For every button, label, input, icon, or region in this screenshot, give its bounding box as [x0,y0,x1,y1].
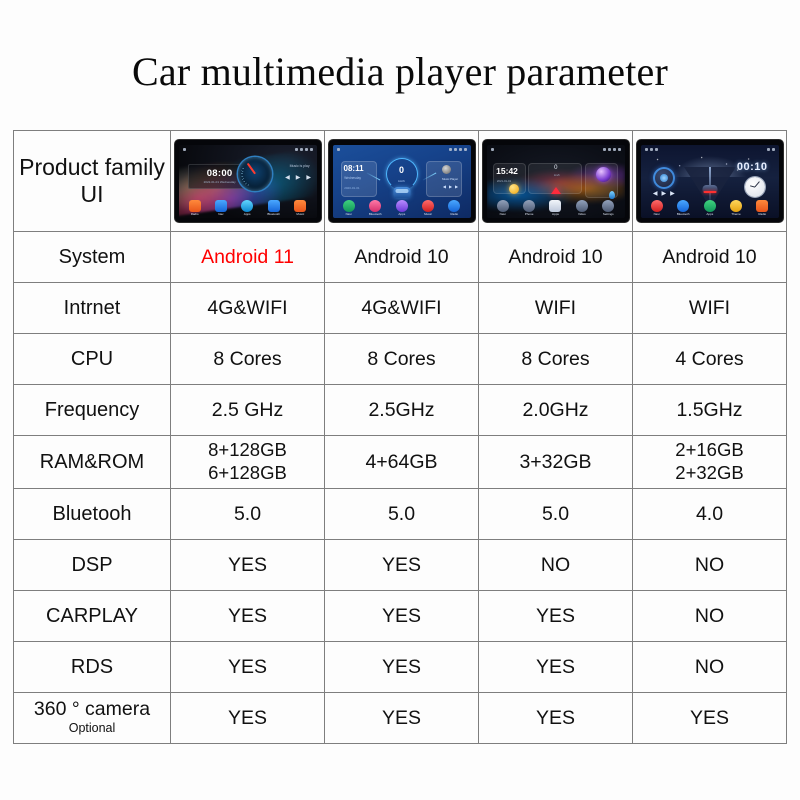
row-value-cell: 3+32GB [479,436,633,489]
screen-2: 08:11 Wednesday 2020-01-01 0 km/h Music … [333,145,471,218]
now-playing-label: Music is play [290,164,310,168]
speed-unit: km/h [554,174,560,177]
status-icons [449,148,467,151]
dock-item[interactable]: Theme [730,200,742,216]
video-icon[interactable] [576,200,588,212]
dock-label: Bluetooth [369,213,382,216]
row-label-cell: Intrnet [14,283,171,334]
row-label: Intrnet [14,297,170,320]
row-value-cell: 2.0GHz [479,385,633,436]
apps-icon[interactable] [396,200,408,212]
row-value-cell: YES [479,591,633,642]
wifi-icon [454,148,457,151]
dock-item[interactable]: Music [422,200,434,216]
row-value-cell: YES [325,591,479,642]
signal-icon [295,148,298,151]
dock-bar-2: Navi Bluetooth Apps [333,197,471,218]
row-value: 5.0 [171,503,324,526]
dock-label: Navi [654,213,660,216]
radio-icon[interactable] [756,200,768,212]
car-icon [702,185,717,192]
row-value-cell: YES [171,693,325,744]
home-icon [183,148,186,151]
row-value-cell: Android 10 [633,232,787,283]
row-value-cell: WIFI [633,283,787,334]
row-value: YES [171,707,324,730]
song-title: Music Player [442,177,458,181]
row-value: 4G&WIFI [325,297,478,320]
battery-icon [772,148,775,151]
gauge-ticks [241,160,269,188]
row-value-cell: 8 Cores [479,334,633,385]
dock-item[interactable]: Navi [651,200,663,216]
row-value-cell: WIFI [479,283,633,334]
radio-icon[interactable] [189,200,201,212]
media-controls-2: ◀ ▶ ▶ [443,184,458,189]
signal-icon [603,148,606,151]
clock-weekday: Wednesday [344,176,361,180]
status-icons [603,148,621,151]
table-row-cpu: CPU 8 Cores 8 Cores 8 Cores 4 Cores [14,334,787,385]
row-value: 4.0 [633,503,786,526]
left-status-icons [645,148,658,151]
row-value: 4+64GB [325,451,478,474]
music-icon[interactable] [422,200,434,212]
table-row-system: System Android 11 Android 10 Android 10 … [14,232,787,283]
row-value-cell: 5.0 [171,489,325,540]
row-label-cell: Frequency [14,385,171,436]
theme-icon[interactable] [730,200,742,212]
bluetooth-icon[interactable] [268,200,280,212]
wifi-icon [767,148,770,151]
row-value: WIFI [479,297,632,320]
dock-item[interactable]: Navi [497,200,509,216]
row-value: 5.0 [325,503,478,526]
row-value: NO [633,656,786,679]
clock-time: 15:42 [496,166,518,176]
row-label-cell: System [14,232,171,283]
row-value: 8 Cores [325,348,478,371]
speed-value: 0 [554,165,557,171]
bluetooth-icon[interactable] [369,200,381,212]
speed-value: 0 [399,165,404,175]
row-value: Android 10 [479,246,632,269]
dock-label: Video [578,213,586,216]
media-controls-1: ◀ ▶ ▶ [285,174,311,181]
clock-subtitle: 2022-01-01 Wednesday [194,180,245,184]
row-value: 2.5GHz [325,399,478,422]
row-value-cell: NO [633,540,787,591]
analog-clock-icon [745,177,765,197]
table-row-intrnet: Intrnet 4G&WIFI 4G&WIFI WIFI WIFI [14,283,787,334]
row-value-cell: 4.0 [633,489,787,540]
dock-item[interactable]: Bluetooth [677,200,690,216]
battery-icon [310,148,313,151]
sphere-decor [509,184,519,194]
ui-thumbnail-1[interactable]: 08:00 2022-01-01 Wednesday Music is play… [175,140,321,222]
row-label: CPU [14,348,170,371]
table-row-dsp: DSP YES YES NO NO [14,540,787,591]
row-label: 360 ° camera [14,699,170,720]
row-value: YES [171,554,324,577]
row-value: Android 11 [171,246,324,269]
row-value-cell: YES [633,693,787,744]
row-value: NO [633,605,786,628]
navigation-icon[interactable] [215,200,227,212]
apps-icon[interactable] [704,200,716,212]
row-label-cell: 360 ° camera Optional [14,693,171,744]
next-icon[interactable]: ▶ [455,184,458,189]
row-label-cell: CARPLAY [14,591,171,642]
row-value: NO [479,554,632,577]
row-value: NO [633,554,786,577]
row-value-cell: YES [325,540,479,591]
row-value: YES [479,605,632,628]
dock-bar-1: Radio Nav Apps [179,197,317,218]
row-value-cell: YES [171,642,325,693]
row-label-cell: RDS [14,642,171,693]
dock-item[interactable]: Bluetooth [369,200,382,216]
row-value-cell: Android 11 [171,232,325,283]
spec-comparison-table: Product family UI [13,130,787,744]
dock-label: Navi [346,213,352,216]
digital-clock: 00:10 [737,161,768,173]
row-value-cell: NO [633,642,787,693]
dock-item[interactable]: Nav [215,200,227,216]
row-value-cell: 2.5 GHz [171,385,325,436]
row-value-cell: Android 10 [479,232,633,283]
ui-thumbnail-2-cell[interactable]: 08:11 Wednesday 2020-01-01 0 km/h Music … [325,131,479,232]
ui-thumbnail-3[interactable]: 15:42 2021-01-01 0 km/h Navi [483,140,629,222]
row-value: WIFI [633,297,786,320]
row-value: 2.0GHz [479,399,632,422]
home-icon [491,148,494,151]
dock-label: Radio [450,213,458,216]
dock-item[interactable]: Radio [189,200,201,216]
next-icon[interactable]: ▶ [306,174,311,181]
status-bar-3 [487,145,625,154]
row-value-cell: 1.5GHz [633,385,787,436]
table-row-ram-rom: RAM&ROM 8+128GB6+128GB 4+64GB 3+32GB 2+1… [14,436,787,489]
dock-label: Nav [218,213,223,216]
row-value-cell: 8 Cores [325,334,479,385]
status-bar-2 [333,145,471,154]
row-value: Android 10 [633,246,786,269]
media-dial-icon[interactable] [653,167,675,189]
dock-item[interactable]: Apps [704,200,716,216]
row-value-cell: YES [171,591,325,642]
status-bar-1 [179,145,317,154]
row-value: YES [633,707,786,730]
row-value: YES [325,554,478,577]
row-value-cell: 8+128GB6+128GB [171,436,325,489]
dock-label: Music [424,213,432,216]
row-value-cell: 5.0 [479,489,633,540]
wifi-icon [608,148,611,151]
home-icon [645,148,648,151]
speedometer-gauge-icon [238,157,272,191]
row-value: YES [479,707,632,730]
row-value-cell: YES [325,693,479,744]
row-value: 2+16GB2+32GB [633,439,786,484]
bluetooth-icon [305,148,308,151]
dock-label: Radio [758,213,766,216]
previous-icon[interactable]: ◀ [443,184,446,189]
dock-item[interactable]: Apps [549,200,561,216]
dock-label: Navi [500,213,506,216]
ui-thumbnail-4-cell[interactable]: ◀ ▶ ▶ 00:10 Navi [633,131,787,232]
dock-label: Phone [525,213,534,216]
dock-item[interactable]: Video [576,200,588,216]
dock-label: Apps [244,213,251,216]
avatar [442,165,451,174]
row-value-cell: NO [479,540,633,591]
row-label: DSP [14,554,170,577]
dock-bar-3: Navi Phone Apps [487,197,625,218]
header-label-cell: Product family UI [14,131,171,232]
ui-thumbnail-2[interactable]: 08:11 Wednesday 2020-01-01 0 km/h Music … [329,140,475,222]
dock-label: Bluetooth [267,213,280,216]
row-value: YES [479,656,632,679]
row-label-cell: CPU [14,334,171,385]
settings-gear-icon[interactable] [602,200,614,212]
apps-icon[interactable] [549,200,561,212]
phone-icon[interactable] [523,200,535,212]
row-label: Bluetooh [14,503,170,526]
page-root: Car multimedia player parameter Product … [0,0,800,800]
dock-label: Theme [731,213,740,216]
speed-unit: km/h [398,179,405,183]
navigation-icon[interactable] [343,200,355,212]
row-value-cell: YES [171,540,325,591]
row-value: 4 Cores [633,348,786,371]
row-value-cell: YES [325,642,479,693]
row-value: 4G&WIFI [171,297,324,320]
row-value-cell: 8 Cores [171,334,325,385]
wifi-icon [300,148,303,151]
row-label: CARPLAY [14,605,170,628]
dock-item[interactable]: Settings [602,200,614,216]
row-value: 8 Cores [479,348,632,371]
screen-1: 08:00 2022-01-01 Wednesday Music is play… [179,145,317,218]
row-label-cell: DSP [14,540,171,591]
row-value: YES [325,656,478,679]
screen-4: ◀ ▶ ▶ 00:10 Navi [641,145,779,218]
row-value: YES [325,707,478,730]
table-row-rds: RDS YES YES YES NO [14,642,787,693]
status-bar-4 [641,145,779,154]
table-row-frequency: Frequency 2.5 GHz 2.5GHz 2.0GHz 1.5GHz [14,385,787,436]
row-value: YES [325,605,478,628]
table-row-360-camera: 360 ° camera Optional YES YES YES YES [14,693,787,744]
dock-item[interactable]: Navi [343,200,355,216]
ui-thumbnail-3-cell[interactable]: 15:42 2021-01-01 0 km/h Navi [479,131,633,232]
row-value-cell: 2+16GB2+32GB [633,436,787,489]
row-value: 1.5GHz [633,399,786,422]
row-value: 3+32GB [479,451,632,474]
row-value-cell: 4G&WIFI [325,283,479,334]
clock-date: 2021-01-01 [497,179,511,183]
battery-icon [618,148,621,151]
navigation-pin-icon[interactable] [651,200,663,212]
row-value: 2.5 GHz [171,399,324,422]
navigation-icon[interactable] [497,200,509,212]
row-value-cell: YES [479,693,633,744]
menu-icon [655,148,658,151]
dock-label: Settings [603,213,614,216]
row-value-cell: Android 10 [325,232,479,283]
row-label: RDS [14,656,170,679]
row-value-cell: 4+64GB [325,436,479,489]
row-value-cell: 2.5GHz [325,385,479,436]
battery-icon [464,148,467,151]
signal-icon [449,148,452,151]
radio-icon[interactable] [448,200,460,212]
row-label: System [14,246,170,269]
row-value-cell: YES [479,642,633,693]
ui-thumbnail-1-cell[interactable]: 08:00 2022-01-01 Wednesday Music is play… [171,131,325,232]
table-row-carplay: CARPLAY YES YES YES NO [14,591,787,642]
ui-thumbnail-4[interactable]: ◀ ▶ ▶ 00:10 Navi [637,140,783,222]
status-icons [295,148,313,151]
dock-item[interactable]: Music [294,200,306,216]
play-icon[interactable]: ▶ [449,184,452,189]
bluetooth-icon [459,148,462,151]
dock-label: Apps [552,213,559,216]
album-art [596,167,611,182]
clock-date: 2020-01-01 [344,186,359,190]
back-icon [650,148,653,151]
row-value: Android 10 [325,246,478,269]
music-icon[interactable] [294,200,306,212]
row-value-cell: 5.0 [325,489,479,540]
row-value: YES [171,605,324,628]
status-icons [767,148,775,151]
row-label: Frequency [14,399,170,422]
dock-label: Apps [398,213,405,216]
dock-item[interactable]: Phone [523,200,535,216]
row-value: YES [171,656,324,679]
row-label-cell: RAM&ROM [14,436,171,489]
dock-label: Bluetooth [677,213,690,216]
apps-icon[interactable] [241,200,253,212]
dock-item[interactable]: Apps [396,200,408,216]
dock-label: Apps [706,213,713,216]
dock-item[interactable]: Apps [241,200,253,216]
row-label-sub: Optional [14,721,170,737]
dock-item[interactable]: Radio [448,200,460,216]
row-value: 8+128GB6+128GB [171,439,324,484]
bluetooth-icon[interactable] [677,200,689,212]
row-value-cell: 4G&WIFI [171,283,325,334]
dock-item[interactable]: Bluetooth [267,200,280,216]
screen-3: 15:42 2021-01-01 0 km/h Navi [487,145,625,218]
dock-label: Music [296,213,304,216]
page-title: Car multimedia player parameter [0,48,800,95]
row-value: 5.0 [479,503,632,526]
dock-item[interactable]: Radio [756,200,768,216]
bluetooth-icon [613,148,616,151]
car-marker-icon [551,187,561,194]
table-row-bluetooth: Bluetooh 5.0 5.0 5.0 4.0 [14,489,787,540]
previous-icon[interactable]: ◀ [285,174,290,181]
row-value-cell: 4 Cores [633,334,787,385]
row-value: 8 Cores [171,348,324,371]
row-label: RAM&ROM [14,451,170,474]
product-family-ui-label: Product family UI [14,154,170,208]
row-value-cell: NO [633,591,787,642]
dock-label: Radio [191,213,199,216]
clock-time: 08:11 [344,164,364,173]
dock-bar-4: Navi Bluetooth Apps [641,197,779,218]
play-icon[interactable]: ▶ [296,174,301,181]
home-icon [337,148,340,151]
table-header-row: Product family UI [14,131,787,232]
row-label-cell: Bluetooh [14,489,171,540]
